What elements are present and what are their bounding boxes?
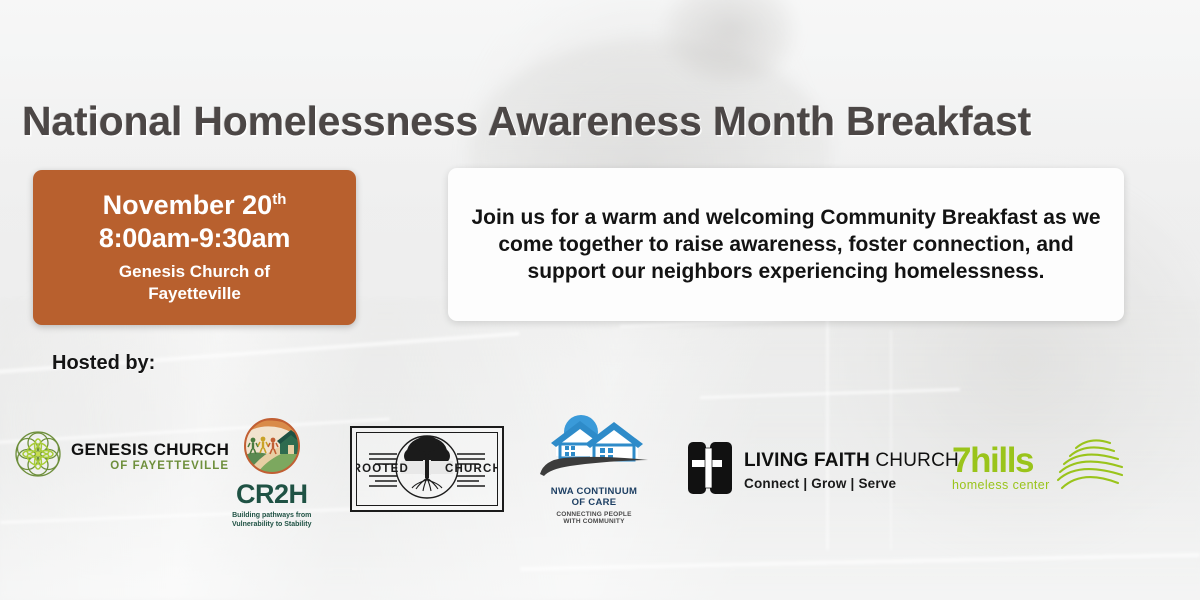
living-faith-name: LIVING FAITH CHURCH — [744, 451, 959, 470]
sponsor-logo-genesis-church: GENESIS CHURCH OF FAYETTEVILLE — [14, 430, 229, 483]
cr2h-wordmark: CR2H — [236, 481, 308, 508]
living-faith-cross-icon — [686, 440, 734, 501]
hosted-by-label: Hosted by: — [52, 352, 155, 375]
rooted-frame: ROOTED CHURCH — [350, 426, 504, 512]
genesis-name-line2: OF FAYETTEVILLE — [71, 461, 229, 473]
sponsor-logo-living-faith-church: LIVING FAITH CHURCH Connect | Grow | Ser… — [686, 440, 959, 501]
nwa-name-line1: NWA CONTINUUM — [551, 486, 637, 497]
living-faith-tagline: Connect | Grow | Serve — [744, 477, 959, 491]
sevenhills-tagline: homeless center — [952, 479, 1050, 492]
event-description-card: Join us for a warm and welcoming Communi… — [448, 168, 1124, 321]
rooted-inner-border — [356, 432, 498, 506]
event-flyer: National Homelessness Awareness Month Br… — [0, 0, 1200, 600]
event-date-ordinal: th — [272, 191, 286, 208]
nwa-name-line2: OF CARE — [572, 497, 617, 508]
page-title: National Homelessness Awareness Month Br… — [22, 98, 1031, 145]
genesis-name-line1: GENESIS CHURCH — [71, 441, 229, 458]
event-venue-line2: Fayetteville — [148, 283, 241, 304]
nwa-houses-sun-icon — [534, 412, 654, 485]
event-time: 8:00am-9:30am — [99, 222, 290, 256]
sponsor-logo-nwa-continuum-of-care: NWA CONTINUUM OF CARE CONNECTING PEOPLE … — [534, 412, 654, 525]
living-faith-wordmark: LIVING FAITH CHURCH Connect | Grow | Ser… — [744, 451, 959, 491]
event-date: November 20th — [103, 191, 287, 221]
cr2h-community-circle-icon — [239, 418, 305, 479]
living-faith-name-bold: LIVING FAITH — [744, 450, 870, 471]
living-faith-name-light: CHURCH — [875, 450, 959, 471]
event-description-text: Join us for a warm and welcoming Communi… — [470, 204, 1102, 286]
sevenhills-arcs-icon — [1052, 434, 1126, 499]
genesis-rosette-icon — [14, 430, 62, 483]
event-date-text: November 20 — [103, 190, 273, 220]
sevenhills-wordmark: 7hills homeless center — [952, 445, 1050, 492]
event-venue-line1: Genesis Church of — [119, 261, 270, 282]
sponsor-logo-7hills-homeless-center: 7hills homeless center — [952, 438, 1126, 499]
cr2h-tagline-line2: Vulnerability to Stability — [232, 520, 311, 529]
nwa-tagline-line2: WITH COMMUNITY — [563, 518, 624, 525]
sponsor-logo-cr2h: CR2H Building pathways from Vulnerabilit… — [232, 418, 311, 530]
genesis-wordmark: GENESIS CHURCH OF FAYETTEVILLE — [71, 441, 229, 473]
cr2h-tagline-line1: Building pathways from — [232, 511, 311, 520]
sponsor-logo-row: GENESIS CHURCH OF FAYETTEVILLE — [0, 412, 1200, 532]
event-details-card: November 20th 8:00am-9:30am Genesis Chur… — [33, 170, 356, 325]
sponsor-logo-rooted-church: ROOTED CHURCH — [350, 426, 504, 512]
cr2h-tagline: Building pathways from Vulnerability to … — [232, 511, 311, 530]
nwa-tagline-line1: CONNECTING PEOPLE — [556, 511, 631, 518]
sevenhills-name: 7hills — [952, 445, 1050, 477]
